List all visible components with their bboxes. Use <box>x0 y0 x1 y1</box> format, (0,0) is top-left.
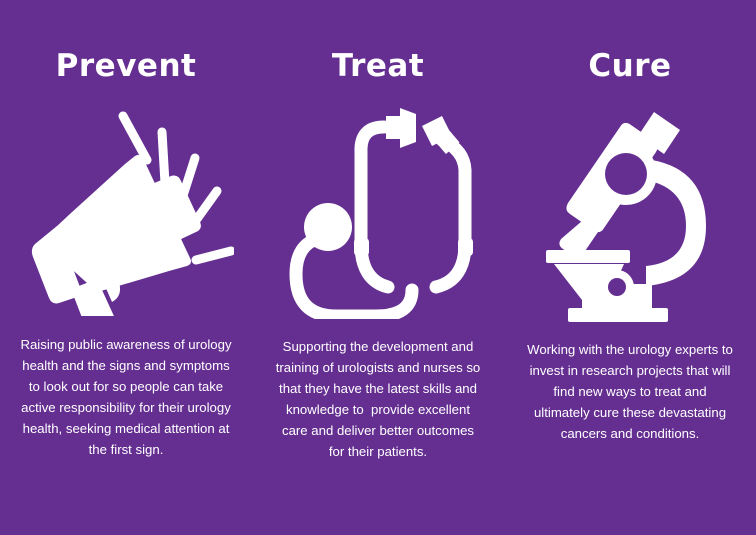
column-treat: Treat <box>252 0 504 535</box>
megaphone-icon <box>19 106 234 316</box>
stethoscope-icon <box>276 94 481 319</box>
description-cure: Working with the urology experts to inve… <box>524 339 736 444</box>
column-cure: Cure <box>504 0 756 535</box>
columns-container: Prevent <box>0 0 756 535</box>
heading-prevent: Prevent <box>56 51 197 82</box>
microscope-icon <box>530 94 730 322</box>
description-prevent: Raising public awareness of urology heal… <box>19 334 233 460</box>
infographic-canvas: Prevent <box>0 0 756 535</box>
column-prevent: Prevent <box>0 0 252 535</box>
heading-treat: Treat <box>332 51 424 82</box>
description-treat: Supporting the development and training … <box>275 336 481 462</box>
heading-cure: Cure <box>588 51 671 82</box>
